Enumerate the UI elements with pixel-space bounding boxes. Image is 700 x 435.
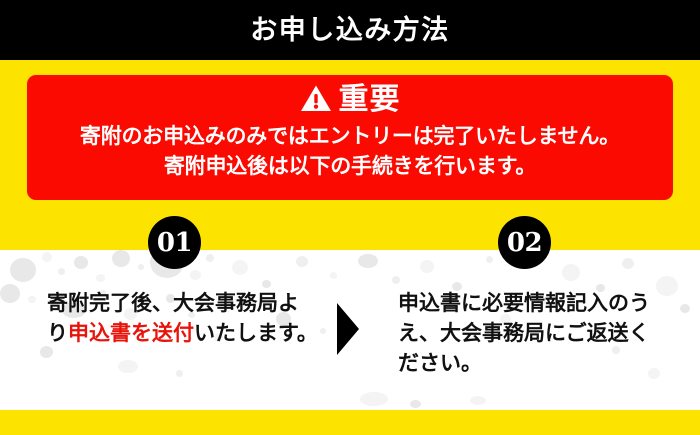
alert-heading-text: 重要	[339, 85, 401, 115]
application-method-infographic: お申し込み方法 重要 寄附のお申込みのみではエントリーは完了いたしません。 寄附…	[0, 0, 700, 435]
alert-line-2: 寄附申込後は以下の手続きを行います。	[164, 152, 536, 182]
splatter-dot	[296, 256, 308, 267]
splatter-dot	[118, 360, 138, 373]
page-title: お申し込み方法	[250, 17, 450, 44]
step-01-segment-plain-2: いたします。	[194, 321, 318, 345]
splatter-dot	[190, 270, 201, 280]
page-header: お申し込み方法	[0, 0, 700, 60]
step-badge-01: 01	[148, 216, 201, 269]
step-02-segment-plain-1: 申込書に必要情報記入のうえ、大会事務局にご返送ください。	[398, 291, 650, 375]
splatter-dot	[232, 260, 248, 275]
step-number-02: 02	[507, 230, 542, 256]
splatter-dot	[96, 274, 105, 282]
splatter-dot	[42, 252, 52, 262]
splatter-dot	[176, 370, 183, 377]
step-01-segment-highlight: 申込書を送付	[68, 321, 194, 345]
step-badge-02: 02	[498, 216, 551, 269]
splatter-dot	[680, 304, 690, 313]
yellow-band: 重要 寄附のお申込みのみではエントリーは完了いたしません。 寄附申込後は以下の手…	[0, 60, 700, 250]
splatter-dot	[138, 264, 144, 270]
splatter-dot	[206, 254, 214, 262]
splatter-dot	[358, 254, 378, 268]
footer-band	[0, 410, 700, 435]
splatter-dot	[10, 258, 36, 282]
step-number-01: 01	[157, 230, 192, 256]
right-arrow-icon	[337, 303, 359, 355]
splatter-dot	[112, 250, 130, 267]
splatter-dot	[486, 256, 493, 263]
splatter-dot	[58, 268, 65, 275]
alert-line-1: 寄附のお申込みのみではエントリーは完了いたしません。	[80, 122, 620, 152]
splatter-dot	[470, 396, 486, 405]
splatter-dot	[392, 276, 400, 284]
splatter-dot	[622, 258, 634, 269]
splatter-dot	[320, 328, 326, 334]
step-description-02: 申込書に必要情報記入のうえ、大会事務局にご返送ください。	[398, 288, 670, 379]
splatter-dot	[330, 272, 337, 279]
warning-triangle-icon	[300, 84, 332, 117]
alert-heading-row: 重要	[300, 81, 401, 119]
splatter-dot	[420, 260, 434, 273]
splatter-dot	[74, 256, 88, 269]
splatter-dot	[360, 392, 388, 406]
splatter-dot	[410, 400, 421, 408]
important-alert-box: 重要 寄附のお申込みのみではエントリーは完了いたしません。 寄附申込後は以下の手…	[27, 75, 673, 200]
splatter-dot	[0, 284, 20, 303]
splatter-dot	[28, 296, 36, 303]
splatter-dot	[562, 264, 580, 281]
step-description-01: 寄附完了後、大会事務局より申込書を送付いたします。	[47, 288, 319, 348]
splatter-dot	[262, 280, 271, 288]
